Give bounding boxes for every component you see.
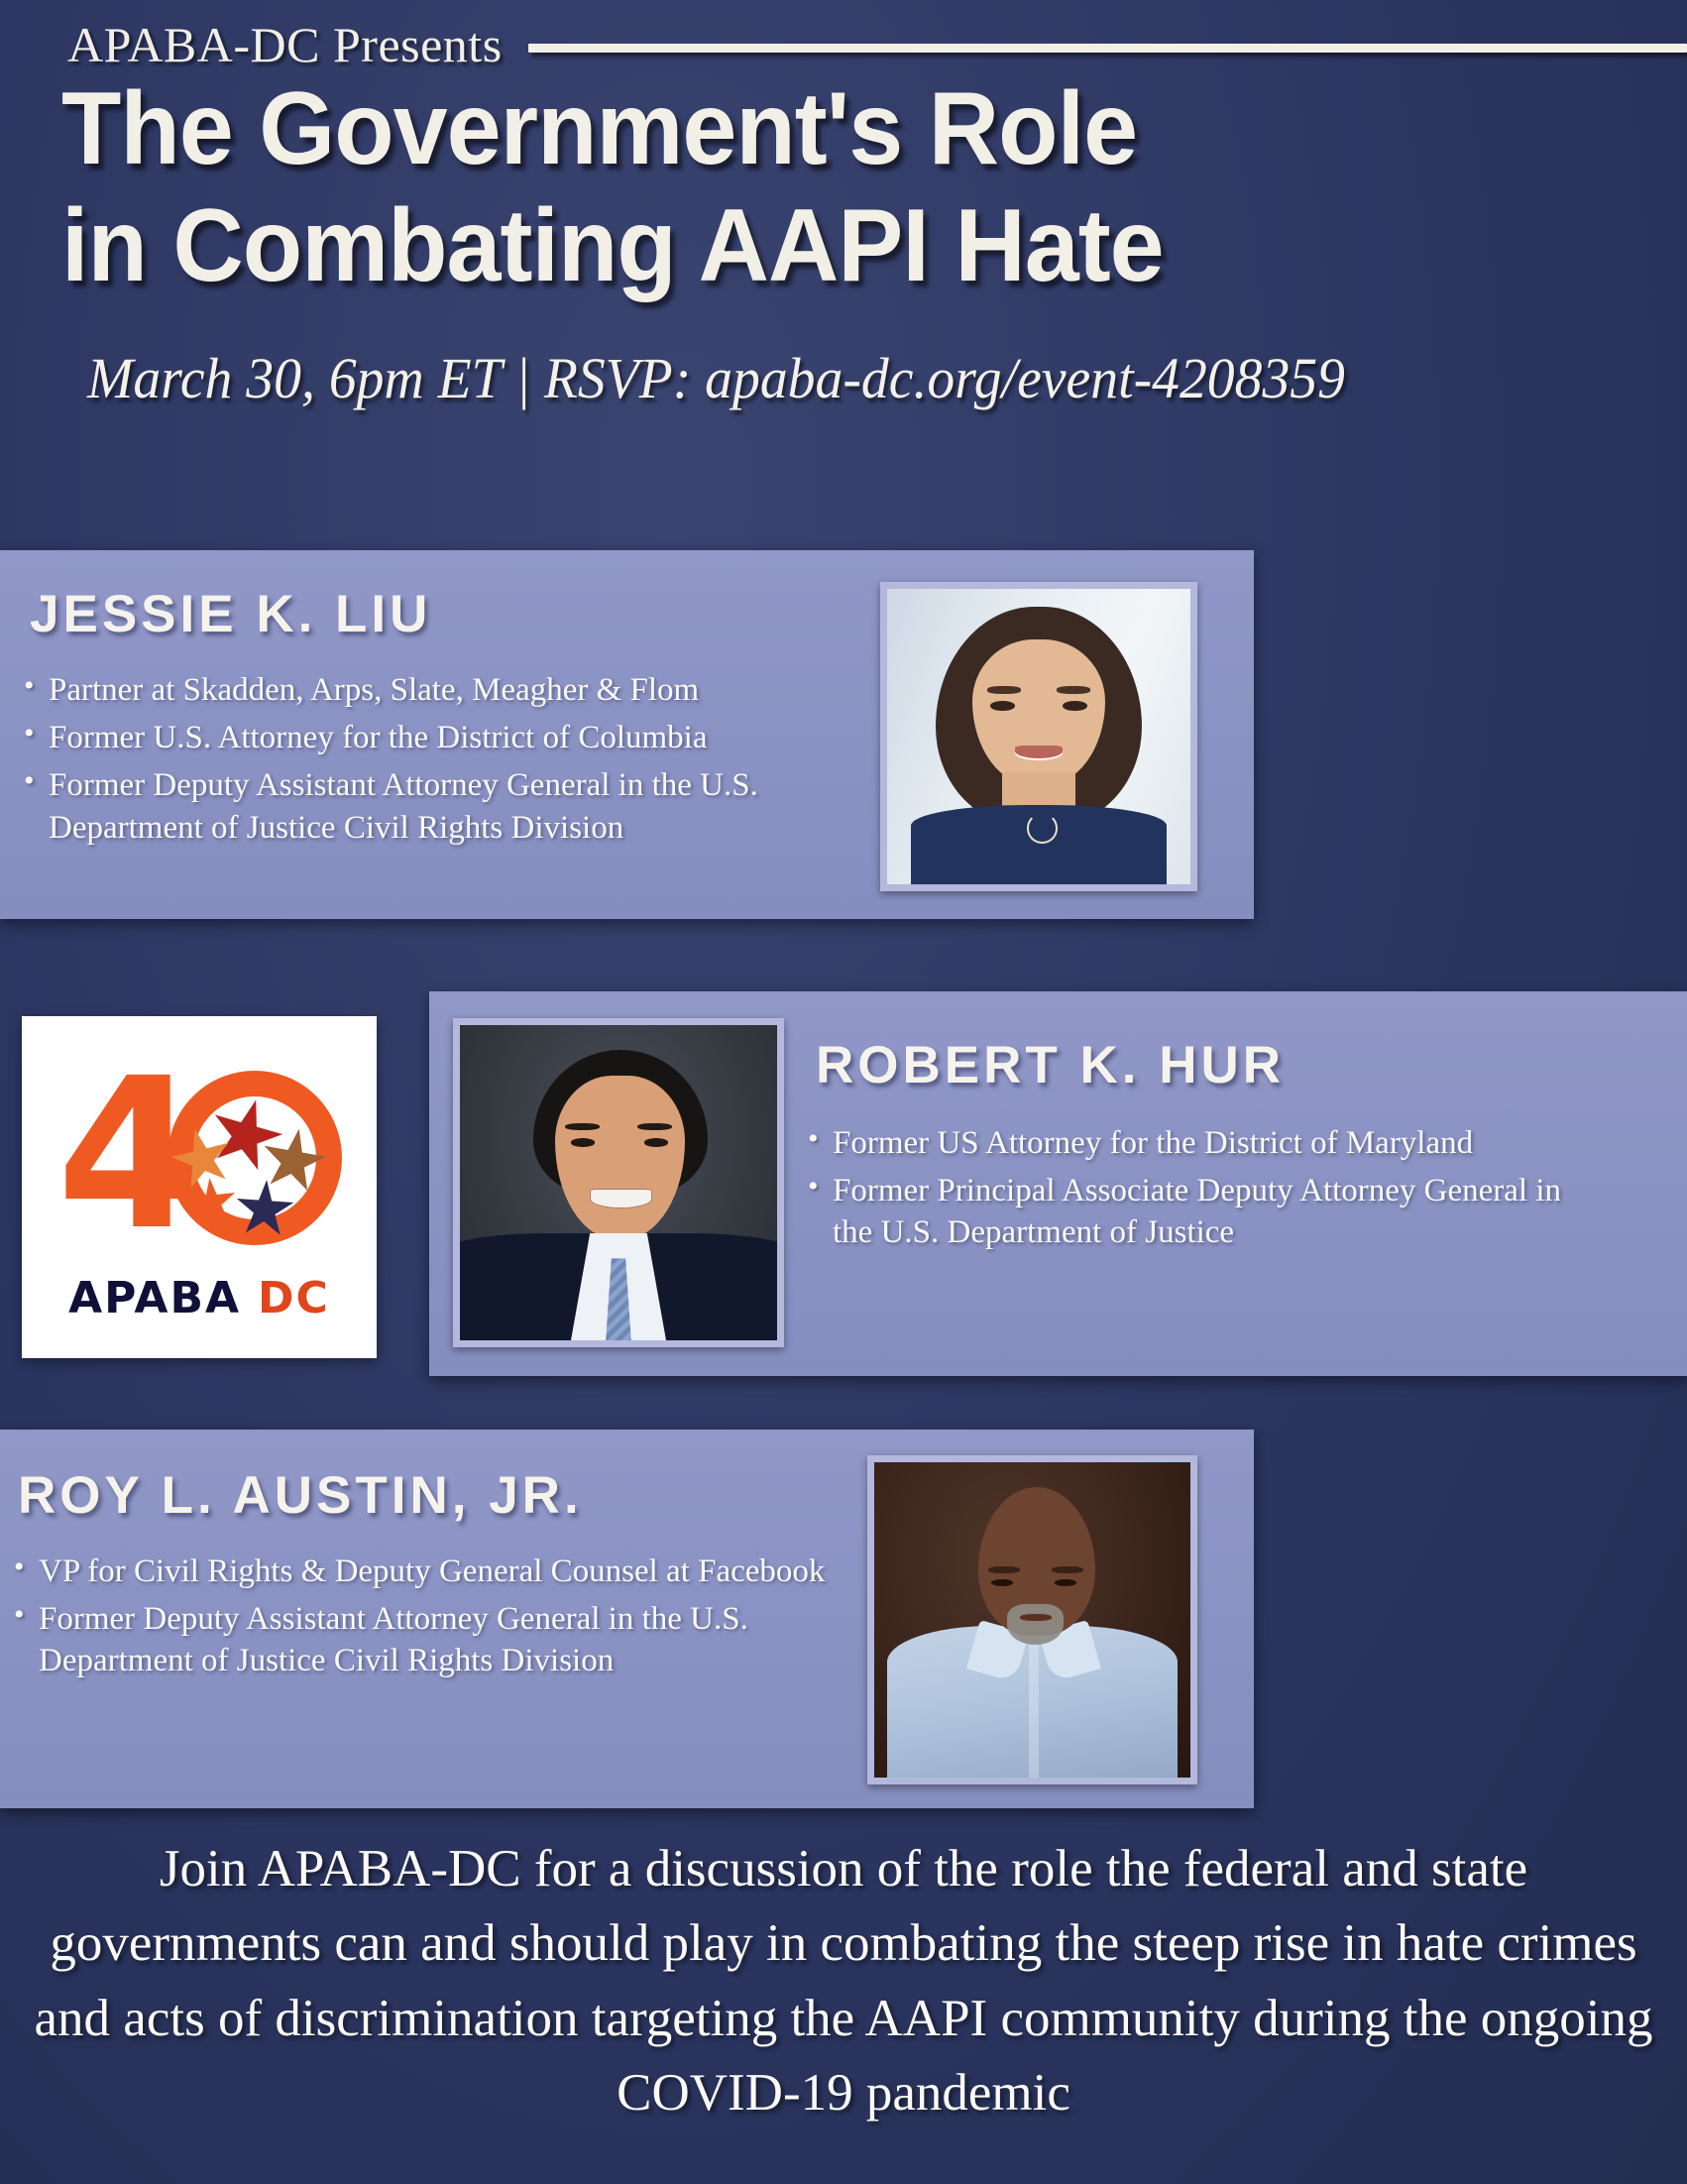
portrait-illustration: [460, 1025, 777, 1340]
speaker-bio-list: Partner at Skadden, Arps, Slate, Meagher…: [22, 669, 884, 855]
portrait-illustration: [887, 589, 1190, 884]
speaker-card-roy-austin: ROY L. AUSTIN, JR. VP for Civil Rights &…: [0, 1430, 1254, 1808]
presents-row: APABA-DC Presents: [67, 14, 1687, 75]
eyebrow-right: [1052, 1566, 1083, 1573]
speaker-photo-roy-austin: [867, 1455, 1197, 1784]
rsvp-link[interactable]: RSVP: apaba-dc.org/event-4208359: [544, 346, 1345, 410]
speaker-card-jessie-liu: JESSIE K. LIU Partner at Skadden, Arps, …: [0, 550, 1254, 919]
eyebrow-left: [988, 1566, 1020, 1573]
speaker-name: JESSIE K. LIU: [30, 584, 431, 644]
title-line-2: in Combating AAPI Hate: [61, 194, 1606, 297]
list-item: Former Deputy Assistant Attorney General…: [12, 1598, 884, 1681]
list-item: Former Principal Associate Deputy Attorn…: [806, 1170, 1599, 1253]
list-item: Former U.S. Attorney for the District of…: [22, 717, 884, 758]
list-item: Former US Attorney for the District of M…: [806, 1122, 1599, 1164]
speaker-bio-list: VP for Civil Rights & Deputy General Cou…: [12, 1551, 884, 1688]
mouth-shape: [1015, 746, 1064, 760]
list-item: Former Deputy Assistant Attorney General…: [22, 764, 884, 848]
logo-wordmark: APABA DC: [68, 1273, 330, 1323]
eyebrow-left: [987, 686, 1021, 694]
speaker-photo-jessie-liu: [880, 582, 1197, 891]
speaker-photo-robert-hur: [453, 1018, 784, 1347]
event-date-rsvp-line: March 30, 6pm ET|RSVP: apaba-dc.org/even…: [87, 345, 1610, 411]
eye-left: [990, 701, 1014, 711]
face-shape: [555, 1076, 685, 1239]
presents-label: APABA-DC Presents: [67, 16, 503, 73]
eye-left: [571, 1138, 595, 1146]
shirt-placket: [1029, 1645, 1039, 1778]
event-flyer: APABA-DC Presents The Government's Role …: [0, 0, 1687, 2184]
event-description: Join APABA-DC for a discussion of the ro…: [28, 1832, 1659, 2130]
logo-org-text: APABA: [68, 1273, 241, 1323]
list-item: VP for Civil Rights & Deputy General Cou…: [12, 1551, 884, 1592]
eye-right: [644, 1138, 668, 1146]
speaker-name: ROY L. AUSTIN, JR.: [18, 1465, 583, 1526]
page-title: The Government's Role in Combating AAPI …: [61, 77, 1606, 297]
mouth-shape: [1020, 1614, 1052, 1622]
apaba-dc-logo: 4 APABA DC: [22, 1016, 377, 1358]
list-item: Partner at Skadden, Arps, Slate, Meagher…: [22, 669, 884, 711]
logo-mark-40: 4: [51, 1051, 348, 1269]
eyebrow-right: [1057, 686, 1090, 694]
speaker-name: ROBERT K. HUR: [816, 1035, 1285, 1095]
speaker-card-robert-hur: ROBERT K. HUR Former US Attorney for the…: [429, 991, 1687, 1376]
logo-city-text: DC: [258, 1273, 330, 1323]
title-line-1: The Government's Role: [61, 71, 1137, 186]
speaker-bio-list: Former US Attorney for the District of M…: [806, 1122, 1599, 1260]
eyebrow-left: [565, 1123, 600, 1131]
eye-right: [1063, 701, 1086, 711]
portrait-illustration: [874, 1462, 1190, 1778]
date-rsvp-separator: |: [503, 346, 544, 410]
mouth-shape: [590, 1189, 652, 1207]
header-divider-rule: [528, 44, 1687, 53]
eyebrow-right: [637, 1123, 672, 1131]
event-date: March 30, 6pm ET: [87, 346, 503, 410]
